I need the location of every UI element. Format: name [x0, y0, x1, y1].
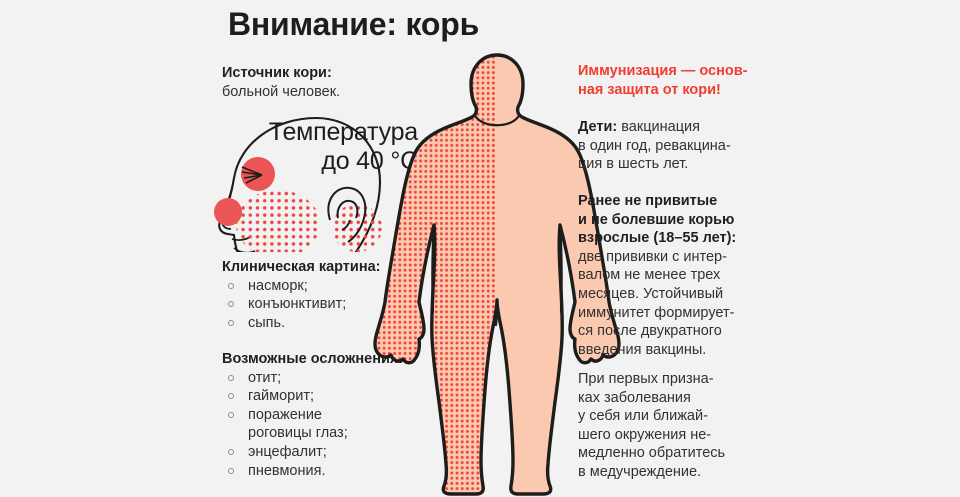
adults-vaccination-block: Ранее не привитые и не болевшие корью вз…	[578, 192, 758, 359]
adults-body-line-6: введения вакцины.	[578, 341, 758, 360]
cheek-rash-patch	[232, 188, 332, 252]
children-line-1-rest: вакцинация	[617, 119, 700, 135]
infographic-poster: Внимание: корь Источник кори: больной че…	[0, 0, 960, 497]
adults-body-line-2: валом не менее трех	[578, 266, 758, 285]
clinical-heading: Клиническая картина:	[222, 258, 380, 277]
adults-body-line-5: ся после двукратного	[578, 322, 758, 341]
seek-care-block: При первых призна- ках заболевания у себ…	[578, 370, 758, 482]
action-line-5: медленно обратитесь	[578, 444, 758, 463]
adults-body-line-3: месяцев. Устойчивый	[578, 285, 758, 304]
clinical-picture-block: Клиническая картина: насморк; конъюнктив…	[222, 258, 380, 332]
headline-line-2: ная защита от кори!	[578, 81, 768, 100]
immunization-headline: Иммунизация — основ- ная защита от кори!	[578, 62, 768, 99]
list-item: насморк;	[222, 277, 380, 296]
headline-line-1: Иммунизация — основ-	[578, 62, 768, 81]
adults-heading-line-2: и не болевшие корью	[578, 211, 758, 230]
children-line-3: ция в шесть лет.	[578, 155, 758, 174]
adults-body-line-4: иммунитет формирует-	[578, 304, 758, 323]
action-line-4: шего окружения не-	[578, 426, 758, 445]
nose-inflammation-marker	[214, 198, 242, 226]
list-item: конъюнктивит;	[222, 295, 380, 314]
list-item: сыпь.	[222, 314, 380, 333]
source-heading: Источник кори:	[222, 64, 340, 83]
adults-heading-line-1: Ранее не привитые	[578, 192, 758, 211]
source-text: больной человек.	[222, 83, 340, 102]
children-line-2: в один год, ревакцина-	[578, 137, 758, 156]
action-line-1: При первых призна-	[578, 370, 758, 389]
children-line-1: Дети: вакцинация	[578, 118, 758, 137]
clinical-list: насморк; конъюнктивит; сыпь.	[222, 277, 380, 333]
adults-heading-line-3: взрослые (18–55 лет):	[578, 229, 758, 248]
adults-body-line-1: две прививки с интер-	[578, 248, 758, 267]
page-title: Внимание: корь	[228, 6, 479, 43]
children-vaccination-block: Дети: вакцинация в один год, ревакцина- …	[578, 118, 758, 174]
action-line-2: ках заболевания	[578, 389, 758, 408]
children-label: Дети:	[578, 119, 617, 135]
source-block: Источник кори: больной человек.	[222, 64, 340, 101]
action-line-6: в медучреждение.	[578, 463, 758, 482]
action-line-3: у себя или ближай-	[578, 407, 758, 426]
